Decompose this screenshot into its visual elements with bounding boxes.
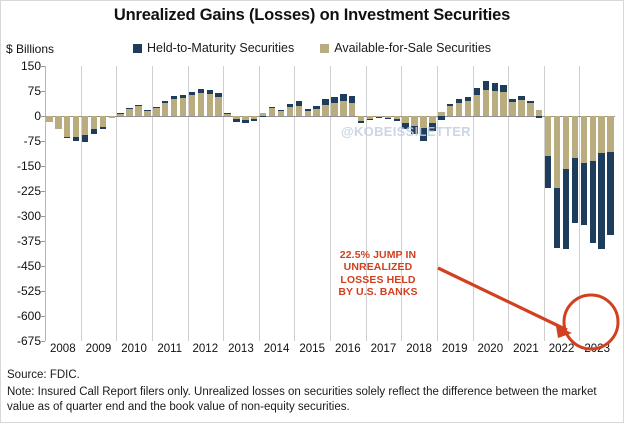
legend-item-held-to-maturity[interactable]: Held-to-Maturity Securities: [133, 41, 294, 55]
bar-segment-available-for-sale: [411, 116, 417, 126]
bar-segment-available-for-sale: [215, 97, 221, 116]
bar-segment-held-to-maturity: [305, 109, 311, 111]
bar-segment-available-for-sale: [331, 103, 337, 116]
bar-segment-held-to-maturity: [207, 90, 213, 94]
bar-2015Q2[interactable]: [305, 66, 311, 341]
bar-segment-held-to-maturity: [358, 121, 364, 123]
source-note: Source: FDIC.: [7, 368, 80, 383]
chart-title: Unrealized Gains (Losses) on Investment …: [0, 6, 624, 25]
x-axis-labels: 2008200920102011201220132014201520162017…: [45, 343, 615, 363]
y-tick: [40, 166, 45, 167]
bar-2014Q2[interactable]: [269, 66, 275, 341]
bar-2022Q1[interactable]: [545, 66, 551, 341]
y-tick: [40, 191, 45, 192]
bar-segment-available-for-sale: [73, 116, 79, 137]
bar-segment-held-to-maturity: [492, 83, 498, 91]
x-tick-label-2010: 2010: [121, 343, 147, 355]
bar-segment-available-for-sale: [402, 116, 408, 123]
bar-segment-held-to-maturity: [171, 96, 177, 99]
bar-segment-held-to-maturity: [189, 92, 195, 95]
x-tick-label-2008: 2008: [50, 343, 76, 355]
bar-segment-available-for-sale: [153, 108, 159, 116]
bar-segment-held-to-maturity: [411, 126, 417, 134]
bar-segment-available-for-sale: [100, 116, 106, 127]
bar-2015Q4[interactable]: [322, 66, 328, 341]
bar-segment-available-for-sale: [171, 99, 177, 116]
bar-2014Q4[interactable]: [287, 66, 293, 341]
bar-segment-available-for-sale: [278, 111, 284, 116]
bar-2017Q2[interactable]: [376, 66, 382, 341]
plot-area: [45, 66, 615, 341]
bar-2020Q3[interactable]: [492, 66, 498, 341]
y-tick-label: -525: [17, 284, 41, 298]
x-tick-label-2011: 2011: [157, 343, 182, 355]
bar-segment-available-for-sale: [82, 116, 88, 135]
bar-2021Q4[interactable]: [536, 66, 542, 341]
y-tick-label: -600: [17, 309, 41, 323]
y-tick: [40, 316, 45, 317]
bar-2010Q3[interactable]: [135, 66, 141, 341]
bar-2019Q1[interactable]: [438, 66, 444, 341]
methodology-note: Note: Insured Call Report filers only. U…: [7, 385, 607, 414]
bar-segment-held-to-maturity: [100, 127, 106, 129]
bar-2023Q1[interactable]: [581, 66, 587, 341]
bar-segment-available-for-sale: [305, 111, 311, 116]
y-tick: [40, 116, 45, 117]
bar-segment-held-to-maturity: [554, 188, 560, 248]
bar-segment-available-for-sale: [545, 116, 551, 156]
bar-segment-held-to-maturity: [126, 108, 132, 109]
bar-segment-available-for-sale: [447, 106, 453, 116]
bar-segment-held-to-maturity: [278, 110, 284, 111]
bar-segment-held-to-maturity: [331, 97, 337, 103]
bar-segment-available-for-sale: [456, 103, 462, 116]
annotation-line-3: BY U.S. BANKS: [318, 286, 438, 298]
bar-segment-held-to-maturity: [509, 99, 515, 102]
bar-2018Q1[interactable]: [402, 66, 408, 341]
bar-segment-available-for-sale: [465, 101, 471, 116]
x-tick-label-2023: 2023: [584, 343, 610, 355]
bar-2009Q4[interactable]: [109, 66, 115, 341]
bar-segment-held-to-maturity: [135, 105, 141, 106]
y-tick-label: 150: [21, 59, 41, 73]
bar-segment-held-to-maturity: [563, 169, 569, 249]
legend-label-available-for-sale: Available-for-Sale Securities: [334, 41, 491, 55]
bar-2011Q3[interactable]: [171, 66, 177, 341]
bar-segment-available-for-sale: [46, 116, 52, 122]
bar-segment-available-for-sale: [322, 105, 328, 116]
bar-segment-held-to-maturity: [233, 119, 239, 122]
x-tick-label-2014: 2014: [264, 343, 290, 355]
y-tick-label: -225: [17, 184, 41, 198]
legend-swatch-available-for-sale: [320, 44, 329, 53]
bar-segment-available-for-sale: [340, 101, 346, 116]
bar-segment-held-to-maturity: [420, 128, 426, 141]
x-tick-label-2021: 2021: [513, 343, 539, 355]
bar-segment-held-to-maturity: [117, 113, 123, 114]
x-tick-label-2019: 2019: [442, 343, 468, 355]
y-tick-label: 75: [28, 84, 41, 98]
bar-2014Q3[interactable]: [278, 66, 284, 341]
bar-segment-held-to-maturity: [180, 95, 186, 98]
y-tick: [40, 266, 45, 267]
annotation-line-2: LOSSES HELD: [318, 274, 438, 286]
bar-segment-available-for-sale: [296, 106, 302, 116]
bar-segment-held-to-maturity: [598, 153, 604, 250]
x-tick-label-2013: 2013: [228, 343, 254, 355]
bar-2012Q1[interactable]: [189, 66, 195, 341]
bar-2011Q1[interactable]: [153, 66, 159, 341]
bar-2017Q3[interactable]: [385, 66, 391, 341]
bar-2013Q2[interactable]: [233, 66, 239, 341]
bar-2013Q3[interactable]: [242, 66, 248, 341]
bar-2019Q3[interactable]: [456, 66, 462, 341]
bar-segment-available-for-sale: [269, 108, 275, 116]
bar-segment-held-to-maturity: [385, 118, 391, 119]
bar-2010Q4[interactable]: [144, 66, 150, 341]
y-tick: [40, 216, 45, 217]
y-tick-label: -75: [24, 134, 41, 148]
bar-segment-available-for-sale: [590, 116, 596, 161]
bar-2023Q2[interactable]: [590, 66, 596, 341]
x-tick-label-2022: 2022: [549, 343, 575, 355]
bar-segment-held-to-maturity: [162, 101, 168, 103]
bar-segment-held-to-maturity: [313, 106, 319, 109]
bar-2019Q4[interactable]: [465, 66, 471, 341]
legend-item-available-for-sale[interactable]: Available-for-Sale Securities: [320, 41, 491, 55]
bar-segment-available-for-sale: [224, 113, 230, 116]
bar-segment-available-for-sale: [598, 116, 604, 153]
y-tick: [40, 91, 45, 92]
bar-2023Q3[interactable]: [598, 66, 604, 341]
bar-2022Q2[interactable]: [554, 66, 560, 341]
bar-2021Q3[interactable]: [527, 66, 533, 341]
bar-2009Q3[interactable]: [100, 66, 106, 341]
bar-2017Q4[interactable]: [394, 66, 400, 341]
bar-2020Q1[interactable]: [474, 66, 480, 341]
y-tick: [40, 141, 45, 142]
x-tick-label-2015: 2015: [299, 343, 325, 355]
bar-2022Q3[interactable]: [563, 66, 569, 341]
x-tick-label-2020: 2020: [478, 343, 504, 355]
bar-segment-held-to-maturity: [581, 163, 587, 226]
bar-segment-available-for-sale: [91, 116, 97, 129]
bar-segment-available-for-sale: [527, 103, 533, 116]
bar-segment-available-for-sale: [117, 113, 123, 116]
x-tick-label-2012: 2012: [193, 343, 219, 355]
bar-2018Q4[interactable]: [429, 66, 435, 341]
x-tick-label-2009: 2009: [86, 343, 112, 355]
bar-segment-available-for-sale: [554, 116, 560, 188]
bar-segment-held-to-maturity: [429, 123, 435, 131]
bar-segment-held-to-maturity: [447, 104, 453, 106]
legend-swatch-held-to-maturity: [133, 44, 142, 53]
bar-segment-held-to-maturity: [376, 117, 382, 118]
bar-segment-available-for-sale: [55, 116, 61, 129]
bar-2019Q2[interactable]: [447, 66, 453, 341]
bar-2010Q2[interactable]: [126, 66, 132, 341]
annotation-line-1: UNREALIZED: [318, 261, 438, 273]
bar-segment-held-to-maturity: [456, 99, 462, 103]
bar-segment-held-to-maturity: [572, 158, 578, 223]
bar-segment-available-for-sale: [420, 116, 426, 128]
bar-segment-held-to-maturity: [394, 119, 400, 121]
bar-segment-held-to-maturity: [322, 99, 328, 104]
bar-2021Q1[interactable]: [509, 66, 515, 341]
bar-segment-held-to-maturity: [367, 119, 373, 120]
bar-2014Q1[interactable]: [260, 66, 266, 341]
bar-2012Q2[interactable]: [198, 66, 204, 341]
legend-label-held-to-maturity: Held-to-Maturity Securities: [147, 41, 294, 55]
bar-segment-held-to-maturity: [215, 93, 221, 96]
bar-segment-held-to-maturity: [73, 137, 79, 141]
bar-segment-available-for-sale: [429, 116, 435, 123]
bar-2012Q3[interactable]: [207, 66, 213, 341]
bar-2021Q2[interactable]: [518, 66, 524, 341]
bar-segment-available-for-sale: [581, 116, 587, 163]
bar-segment-available-for-sale: [287, 107, 293, 116]
bar-2010Q1[interactable]: [117, 66, 123, 341]
bar-segment-available-for-sale: [518, 100, 524, 116]
bar-2013Q1[interactable]: [224, 66, 230, 341]
bar-segment-available-for-sale: [162, 103, 168, 116]
bar-2008Q1[interactable]: [46, 66, 52, 341]
bar-segment-held-to-maturity: [500, 85, 506, 92]
bar-2016Q1[interactable]: [331, 66, 337, 341]
bar-segment-held-to-maturity: [607, 152, 613, 235]
bar-segment-available-for-sale: [126, 109, 132, 116]
bar-segment-available-for-sale: [483, 90, 489, 116]
bar-2013Q4[interactable]: [251, 66, 257, 341]
bar-segment-available-for-sale: [207, 94, 213, 116]
bar-2016Q2[interactable]: [340, 66, 346, 341]
bar-segment-held-to-maturity: [296, 101, 302, 106]
y-tick-label: -300: [17, 209, 41, 223]
bar-2008Q3[interactable]: [64, 66, 70, 341]
bar-2016Q4[interactable]: [358, 66, 364, 341]
bar-2015Q3[interactable]: [313, 66, 319, 341]
bar-segment-held-to-maturity: [251, 119, 257, 121]
bar-2016Q3[interactable]: [349, 66, 355, 341]
bar-segment-available-for-sale: [572, 116, 578, 158]
bar-segment-held-to-maturity: [438, 116, 444, 120]
bar-segment-available-for-sale: [607, 116, 613, 152]
bar-2018Q3[interactable]: [420, 66, 426, 341]
bar-segment-held-to-maturity: [545, 156, 551, 188]
bar-2018Q2[interactable]: [411, 66, 417, 341]
y-tick: [40, 341, 45, 342]
bar-segment-held-to-maturity: [527, 101, 533, 103]
bar-segment-held-to-maturity: [82, 135, 88, 142]
bar-2012Q4[interactable]: [215, 66, 221, 341]
bar-2022Q4[interactable]: [572, 66, 578, 341]
bar-segment-held-to-maturity: [465, 97, 471, 102]
annotation-line-0: 22.5% JUMP IN: [318, 249, 438, 261]
bar-segment-held-to-maturity: [287, 104, 293, 107]
x-tick-label-2017: 2017: [371, 343, 397, 355]
bar-segment-held-to-maturity: [590, 161, 596, 243]
bar-segment-held-to-maturity: [518, 96, 524, 100]
bar-segment-held-to-maturity: [153, 107, 159, 108]
x-tick-label-2016: 2016: [335, 343, 361, 355]
bar-2015Q1[interactable]: [296, 66, 302, 341]
bar-segment-held-to-maturity: [260, 116, 266, 117]
bar-2020Q2[interactable]: [483, 66, 489, 341]
bar-segment-held-to-maturity: [474, 88, 480, 95]
bar-2023Q4[interactable]: [607, 66, 613, 341]
bar-2009Q2[interactable]: [91, 66, 97, 341]
bar-segment-held-to-maturity: [224, 113, 230, 114]
bar-segment-held-to-maturity: [269, 107, 275, 108]
y-tick-label: -150: [17, 159, 41, 173]
bar-segment-available-for-sale: [64, 116, 70, 137]
y-tick-label: -675: [17, 334, 41, 348]
bar-segment-held-to-maturity: [91, 129, 97, 134]
bar-segment-available-for-sale: [189, 95, 195, 116]
bar-2020Q4[interactable]: [500, 66, 506, 341]
bar-segment-held-to-maturity: [402, 123, 408, 129]
bar-segment-held-to-maturity: [198, 89, 204, 93]
y-tick: [40, 241, 45, 242]
bar-segment-held-to-maturity: [536, 116, 542, 118]
x-tick-label-2018: 2018: [406, 343, 432, 355]
y-tick: [40, 66, 45, 67]
bar-segment-available-for-sale: [313, 109, 319, 116]
y-tick: [40, 291, 45, 292]
bar-2008Q2[interactable]: [55, 66, 61, 341]
bar-segment-available-for-sale: [180, 98, 186, 116]
bar-2011Q2[interactable]: [162, 66, 168, 341]
annotation-callout: 22.5% JUMP INUNREALIZEDLOSSES HELDBY U.S…: [318, 249, 438, 298]
bar-segment-available-for-sale: [349, 103, 355, 116]
chart-legend: Held-to-Maturity Securities Available-fo…: [0, 41, 624, 55]
bar-segment-available-for-sale: [492, 91, 498, 116]
y-tick-label: -375: [17, 234, 41, 248]
bar-2017Q1[interactable]: [367, 66, 373, 341]
bar-2011Q4[interactable]: [180, 66, 186, 341]
bar-2008Q4[interactable]: [73, 66, 79, 341]
bar-segment-available-for-sale: [135, 106, 141, 116]
bar-segment-available-for-sale: [198, 93, 204, 116]
bar-segment-held-to-maturity: [340, 94, 346, 101]
bar-segment-available-for-sale: [509, 102, 515, 116]
bar-segment-available-for-sale: [563, 116, 569, 169]
y-axis-labels: 150750-75-150-225-300-375-450-525-600-67…: [0, 66, 41, 341]
bar-segment-available-for-sale: [474, 95, 480, 116]
bar-segment-available-for-sale: [144, 110, 150, 116]
bar-segment-held-to-maturity: [483, 81, 489, 90]
y-tick-label: -450: [17, 259, 41, 273]
bar-segment-held-to-maturity: [242, 120, 248, 123]
bar-segment-available-for-sale: [109, 116, 115, 118]
bar-segment-available-for-sale: [500, 92, 506, 116]
bar-2009Q1[interactable]: [82, 66, 88, 341]
bar-segment-held-to-maturity: [349, 96, 355, 103]
bar-segment-held-to-maturity: [64, 137, 70, 138]
